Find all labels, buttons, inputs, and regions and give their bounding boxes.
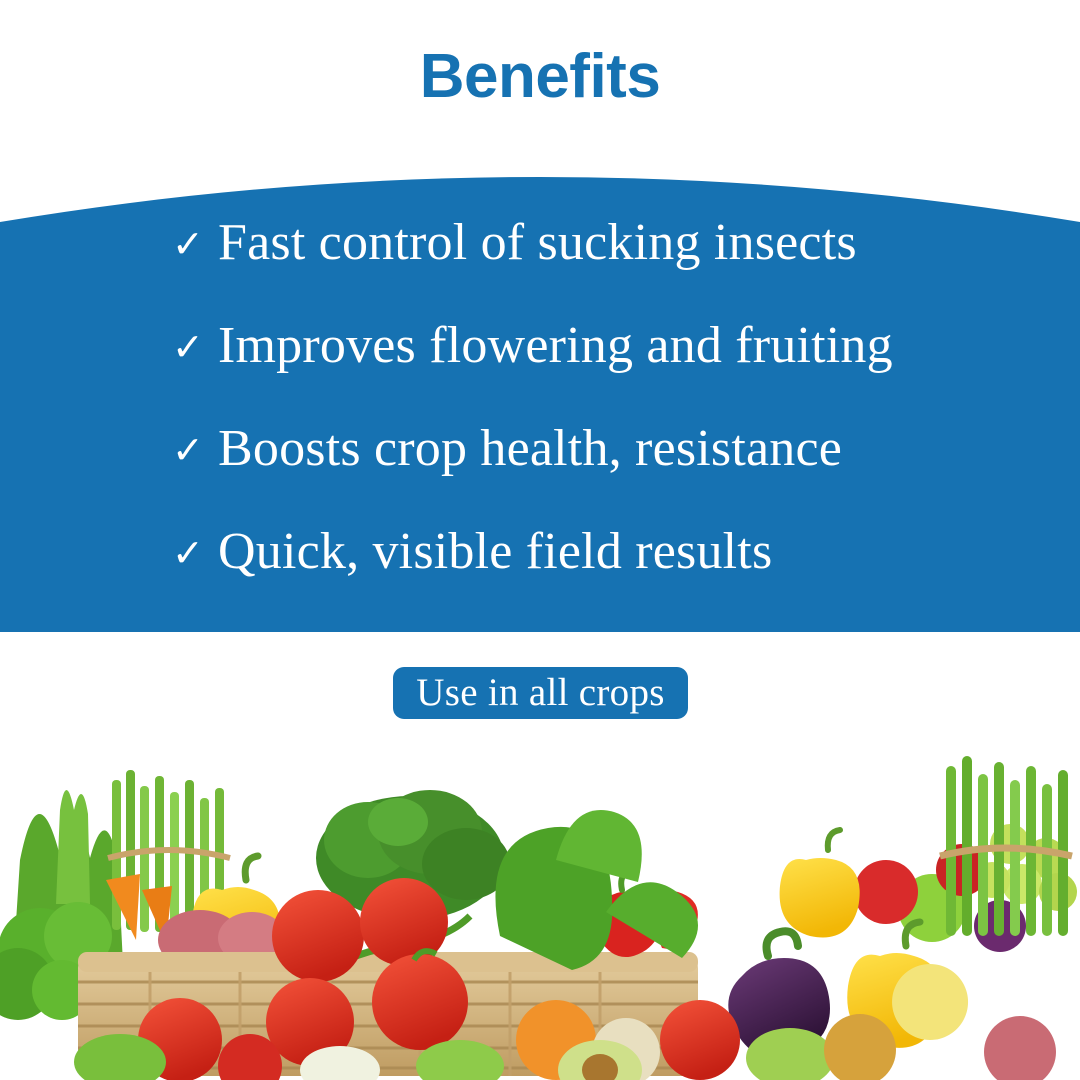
check-icon: ✓ [172,431,218,469]
check-icon: ✓ [172,328,218,366]
list-item: ✓ Quick, visible field results [172,523,772,580]
benefits-poster: Benefits ✓ Fast control of sucking insec… [0,0,1080,1080]
status-badge: Use in all crops [393,667,688,719]
benefits-list: ✓ Fast control of sucking insects ✓ Impr… [0,140,1080,632]
benefit-label: Quick, visible field results [218,523,772,580]
badge-label: Use in all crops [416,673,665,712]
page-title: Benefits [0,44,1080,109]
produce-illustration [0,740,1080,1080]
produce-image [0,740,1080,1080]
benefit-label: Boosts crop health, resistance [218,420,842,477]
check-icon: ✓ [172,534,218,572]
benefit-label: Improves flowering and fruiting [218,317,893,374]
check-icon: ✓ [172,225,218,263]
benefit-label: Fast control of sucking insects [218,214,857,271]
list-item: ✓ Improves flowering and fruiting [172,317,893,374]
list-item: ✓ Boosts crop health, resistance [172,420,842,477]
list-item: ✓ Fast control of sucking insects [172,214,857,271]
